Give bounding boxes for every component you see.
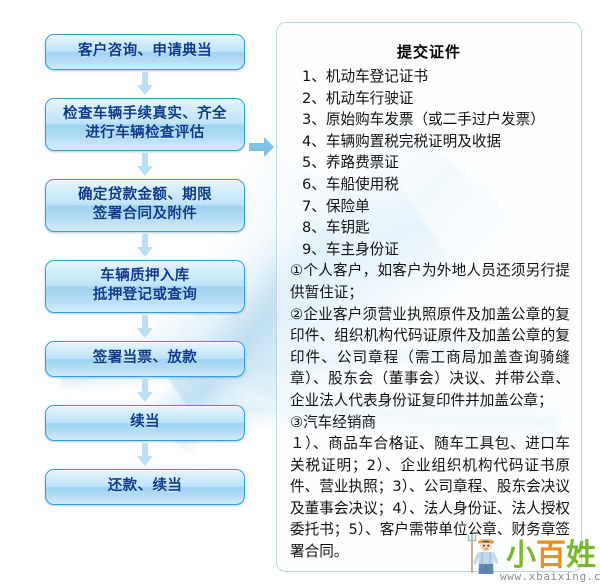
panel-title: 提交证件 — [288, 41, 570, 62]
document-list: 1、机动车登记证书 2、机动车行驶证 3、原始购车发票（或二手过户发票） 4、车… — [288, 66, 570, 260]
flow-step-4-line-1: 车辆质押入库 — [50, 267, 240, 286]
process-flowchart: 客户咨询、申请典当 检查车辆手续真实、齐全 进行车辆检查评估 确定贷款金额、期限… — [45, 34, 247, 505]
flow-step-1-line-1: 客户咨询、申请典当 — [50, 42, 240, 61]
flow-to-panel-connector — [249, 137, 275, 161]
list-item: 4、车辆购置税完税证明及收据 — [288, 131, 570, 153]
list-item: 6、车船使用税 — [288, 174, 570, 196]
list-item: 9、车主身份证 — [288, 239, 570, 261]
flow-step-4[interactable]: 车辆质押入库 抵押登记或查询 — [45, 260, 245, 313]
flow-connector-6 — [45, 441, 245, 469]
flow-connector-5 — [45, 377, 245, 405]
down-arrow-icon — [136, 153, 154, 177]
required-documents-panel: 提交证件 1、机动车登记证书 2、机动车行驶证 3、原始购车发票（或二手过户发票… — [276, 22, 582, 572]
flow-step-1[interactable]: 客户咨询、申请典当 — [45, 34, 245, 70]
flow-step-2-line-2: 进行车辆检查评估 — [50, 124, 240, 143]
watermark-url: www.xbaixing.com — [500, 570, 600, 583]
down-arrow-icon — [136, 315, 154, 339]
flow-connector-4 — [45, 313, 245, 341]
down-arrow-icon — [136, 443, 154, 467]
down-arrow-icon — [136, 379, 154, 403]
list-item: 5、养路费票证 — [288, 152, 570, 174]
flow-step-3-line-1: 确定贷款金额、期限 — [50, 186, 240, 205]
note-paragraph-individual: ①个人客户，如客户为外地人员还须另行提供暂住证； — [288, 260, 570, 303]
flow-step-6[interactable]: 续当 — [45, 405, 245, 441]
flow-connector-3 — [45, 232, 245, 260]
list-item: 7、保险单 — [288, 196, 570, 218]
flow-step-2-line-1: 检查车辆手续真实、齐全 — [50, 105, 240, 124]
flow-step-7[interactable]: 还款、续当 — [45, 469, 245, 505]
down-arrow-icon — [136, 234, 154, 258]
flow-connector-1 — [45, 70, 245, 98]
list-item: 3、原始购车发票（或二手过户发票） — [288, 109, 570, 131]
right-arrow-icon — [249, 137, 275, 157]
note-paragraph-dealer-heading: ③汽车经销商 — [288, 412, 570, 434]
flow-connector-2 — [45, 151, 245, 179]
list-item: 1、机动车登记证书 — [288, 66, 570, 88]
flow-step-4-line-2: 抵押登记或查询 — [50, 286, 240, 305]
note-paragraph-enterprise: ②企业客户须营业执照原件及加盖公章的复印件、组织机构代码证原件及加盖公章的复印件… — [288, 304, 570, 412]
flow-step-7-line-1: 还款、续当 — [50, 477, 240, 496]
flow-step-5-line-1: 签署当票、放款 — [50, 349, 240, 368]
list-item: 2、机动车行驶证 — [288, 88, 570, 110]
list-item: 8、车钥匙 — [288, 217, 570, 239]
flow-step-2[interactable]: 检查车辆手续真实、齐全 进行车辆检查评估 — [45, 98, 245, 151]
flow-step-6-line-1: 续当 — [50, 413, 240, 432]
flow-step-3-line-2: 签署合同及附件 — [50, 205, 240, 224]
flow-step-5[interactable]: 签署当票、放款 — [45, 341, 245, 377]
down-arrow-icon — [136, 72, 154, 96]
note-paragraph-dealer-details: １）、商品车合格证、随车工具包、进口车关税证明；2）、企业组织机构代码证书原件、… — [288, 433, 570, 563]
flow-step-3[interactable]: 确定贷款金额、期限 签署合同及附件 — [45, 179, 245, 232]
